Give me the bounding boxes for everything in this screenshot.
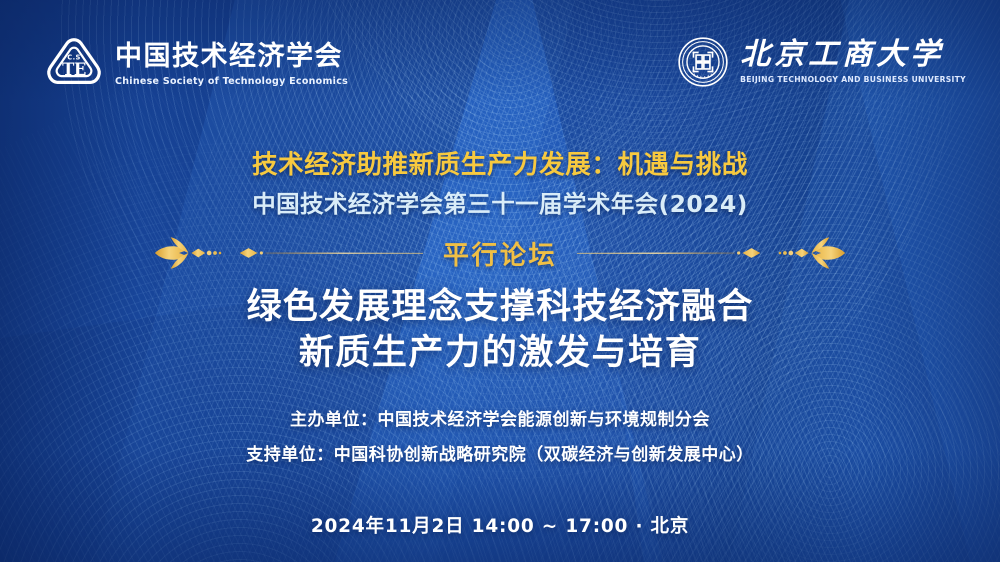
poster-content: 技术经济助推新质生产力发展：机遇与挑战 中国技术经济学会第三十一届学术年会(20… — [0, 0, 1000, 562]
conference-theme: 技术经济助推新质生产力发展：机遇与挑战 — [0, 144, 1000, 181]
session-label-row: 平行论坛 — [0, 231, 1000, 275]
ornament-arrow-right-icon — [575, 236, 851, 270]
session-label: 平行论坛 — [425, 235, 575, 272]
datetime-location: 2024年11月2日 14:00 ~ 17:00 · 北京 — [0, 512, 1000, 538]
forum-headline-line-2: 新质生产力的激发与培育 — [0, 331, 1000, 377]
support-organizer: 支持单位：中国科协创新战略研究院（双碳经济与创新发展中心） — [0, 440, 1000, 465]
conference-poster: C.S TE 中国技术经济学会 Chinese Society of Techn… — [0, 0, 1000, 562]
conference-name: 中国技术经济学会第三十一届学术年会(2024) — [0, 185, 1000, 219]
forum-headline: 绿色发展理念支撑科技经济融合 新质生产力的激发与培育 — [0, 285, 1000, 376]
ornament-arrow-left-icon — [149, 236, 425, 270]
forum-headline-line-1: 绿色发展理念支撑科技经济融合 — [0, 285, 1000, 331]
host-organizer: 主办单位：中国技术经济学会能源创新与环境规制分会 — [0, 405, 1000, 430]
